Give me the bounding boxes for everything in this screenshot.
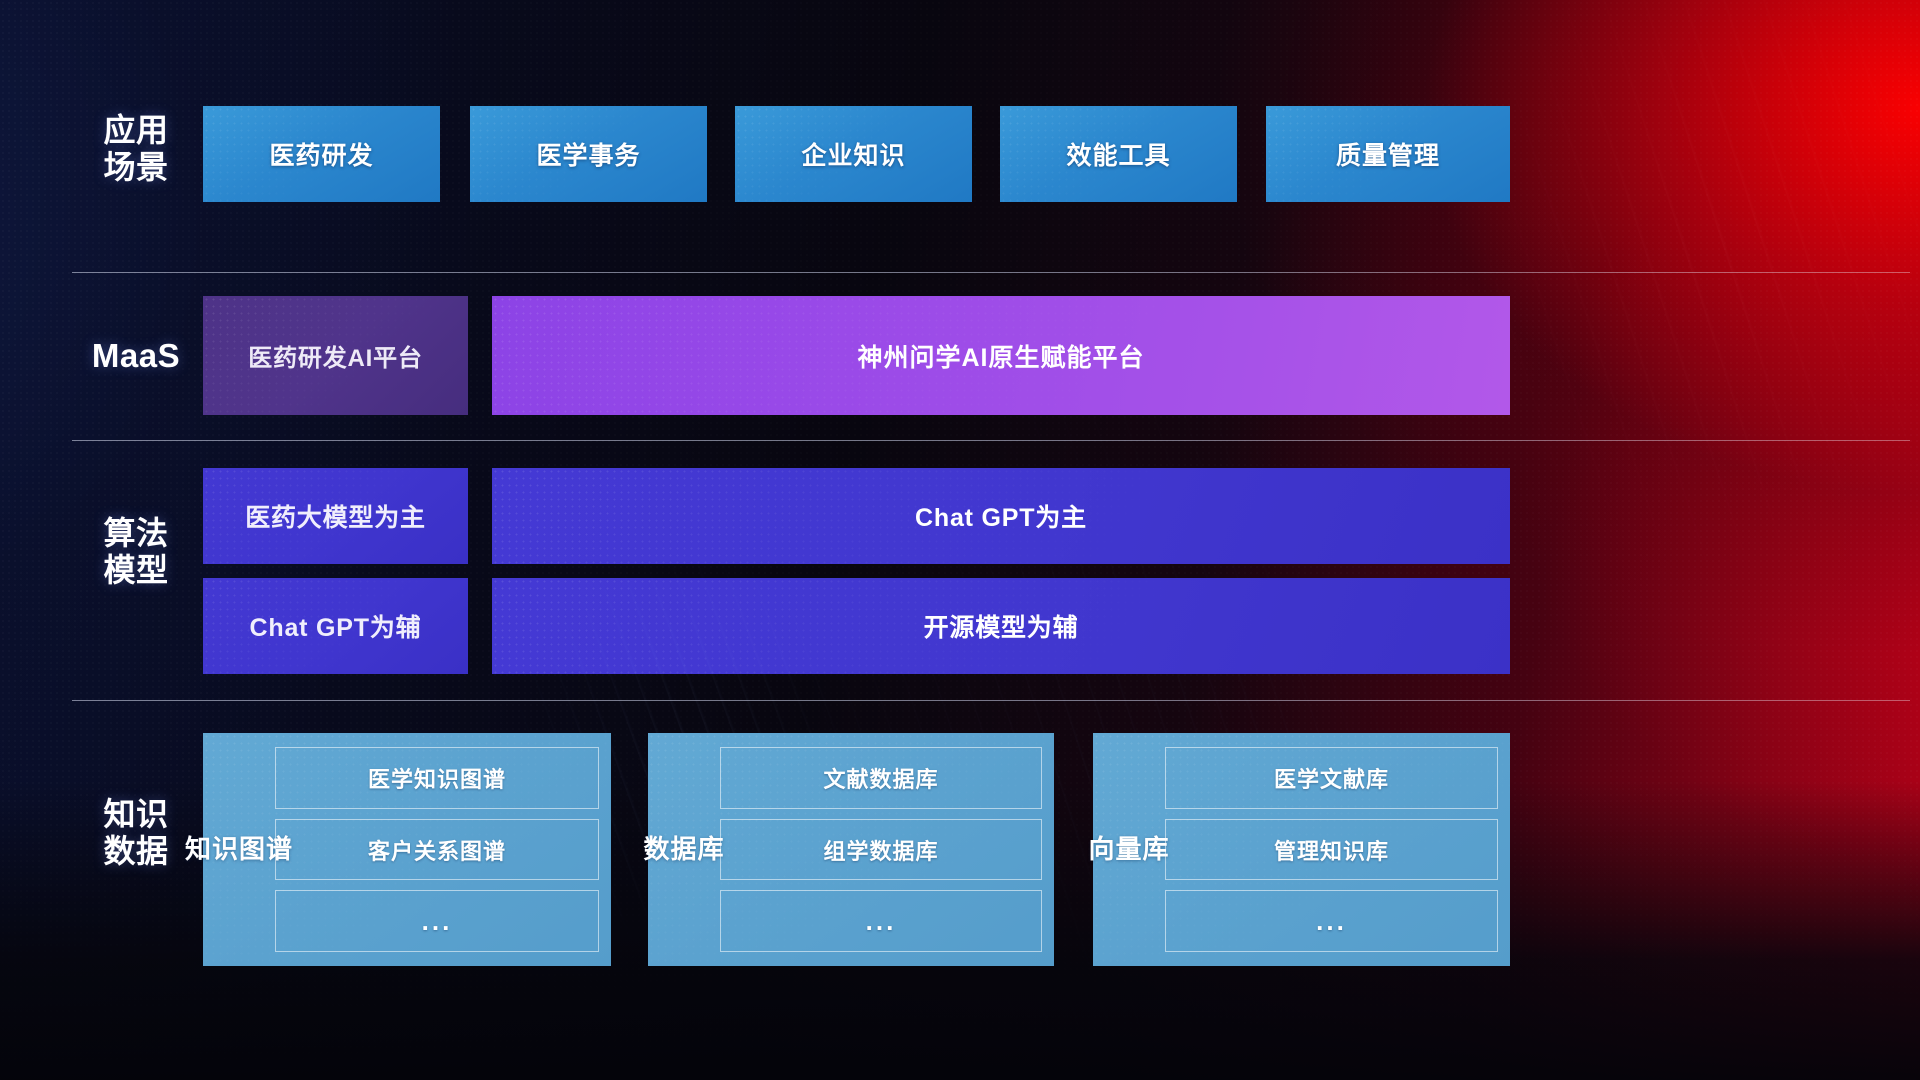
application-box-yiyao-yanfa[interactable]: 医药研发 [203,106,440,202]
knowledge-item-kehu-guanxi-tupu[interactable]: 客户关系图谱 [275,819,599,881]
knowledge-group-xiangliangku: 向量库 医学文献库 管理知识库 ... [1093,733,1510,966]
row-label-knowledge-line1: 知识 [103,796,168,833]
row-label-application: 应用 场景 [72,112,200,186]
knowledge-item-guanli-zhishiku[interactable]: 管理知识库 [1165,819,1498,881]
knowledge-items-xiangliangku: 医学文献库 管理知识库 ... [1165,747,1498,952]
knowledge-group-zhishi-tupu: 知识图谱 医学知识图谱 客户关系图谱 ... [203,733,611,966]
row-label-maas-line1: MaaS [92,339,180,372]
knowledge-group-shujuku: 数据库 文献数据库 组学数据库 ... [648,733,1054,966]
knowledge-group-title-xiangliangku: 向量库 [1093,747,1165,952]
algorithm-box-yiyao-damoxing-primary[interactable]: 医药大模型为主 [203,468,468,564]
divider-algorithm-knowledge [72,700,1910,701]
algorithm-box-opensource-secondary[interactable]: 开源模型为辅 [492,578,1510,674]
maas-box-shenzhou-wenxue-platform[interactable]: 神州问学AI原生赋能平台 [492,296,1510,415]
divider-application-maas [72,272,1910,273]
knowledge-item-yixue-wenxianku[interactable]: 医学文献库 [1165,747,1498,809]
knowledge-item-more-xiangliangku[interactable]: ... [1165,890,1498,952]
row-label-knowledge-line2: 数据 [103,833,168,870]
row-label-application-line2: 场景 [72,149,200,186]
knowledge-items-shujuku: 文献数据库 组学数据库 ... [720,747,1042,952]
row-label-application-line1: 应用 [72,112,200,149]
application-box-qiye-zhishi[interactable]: 企业知识 [735,106,972,202]
row-label-knowledge: 知识 数据 [72,700,200,966]
row-label-maas: MaaS [72,270,200,440]
application-box-yixue-shiwu[interactable]: 医学事务 [470,106,707,202]
row-label-algorithm: 算法 模型 [72,424,200,680]
row-label-algorithm-line2: 模型 [103,552,168,589]
knowledge-item-more-shujuku[interactable]: ... [720,890,1042,952]
knowledge-items-zhishi-tupu: 医学知识图谱 客户关系图谱 ... [275,747,599,952]
divider-maas-algorithm [72,440,1910,441]
knowledge-group-title-shujuku: 数据库 [648,747,720,952]
knowledge-item-more-zhishi-tupu[interactable]: ... [275,890,599,952]
algorithm-box-chatgpt-secondary[interactable]: Chat GPT为辅 [203,578,468,674]
architecture-diagram: 应用 场景 医药研发 医学事务 企业知识 效能工具 质量管理 MaaS 医药研发… [0,0,1920,1080]
knowledge-item-zuxue-shujuku[interactable]: 组学数据库 [720,819,1042,881]
maas-box-yiyao-yanfa-ai-platform[interactable]: 医药研发AI平台 [203,296,468,415]
knowledge-item-yixue-zhishi-tupu[interactable]: 医学知识图谱 [275,747,599,809]
knowledge-group-title-zhishi-tupu: 知识图谱 [203,747,275,952]
knowledge-item-wenxian-shujuku[interactable]: 文献数据库 [720,747,1042,809]
row-label-algorithm-line1: 算法 [103,515,168,552]
application-box-zhiliang-guanli[interactable]: 质量管理 [1266,106,1510,202]
application-box-xiaoneng-gongju[interactable]: 效能工具 [1000,106,1237,202]
algorithm-box-chatgpt-primary[interactable]: Chat GPT为主 [492,468,1510,564]
